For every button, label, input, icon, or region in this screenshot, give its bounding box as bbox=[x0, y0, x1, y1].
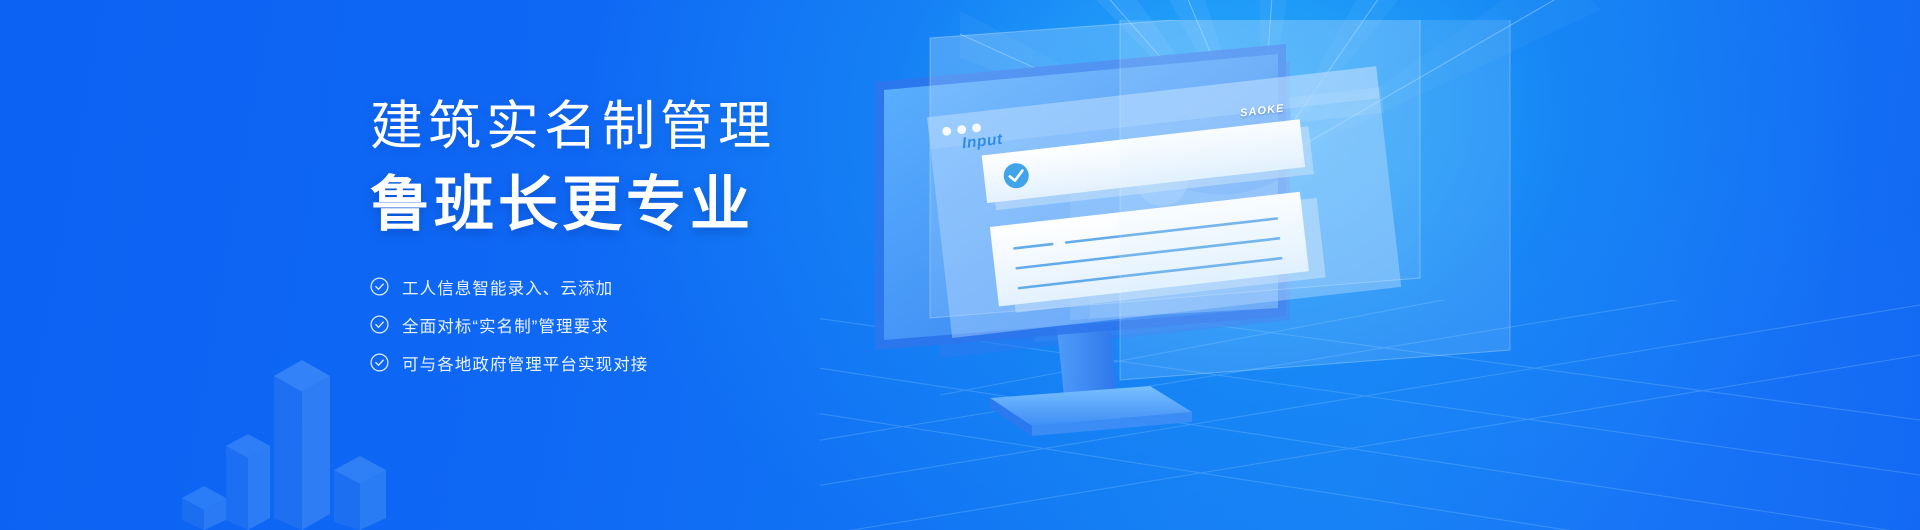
feature-item: 工人信息智能录入、云添加 bbox=[370, 275, 830, 299]
page-title-line2: 鲁班长更专业 bbox=[370, 169, 830, 241]
feature-label: 工人信息智能录入、云添加 bbox=[402, 275, 613, 299]
feature-label: 全面对标“实名制”管理要求 bbox=[402, 313, 609, 337]
check-circle-icon bbox=[370, 277, 389, 296]
desktop-monitor-illustration bbox=[820, 20, 1920, 520]
check-circle-icon bbox=[370, 353, 389, 372]
promo-banner: SAOKE Input bbox=[0, 0, 1920, 530]
feature-item: 全面对标“实名制”管理要求 bbox=[370, 313, 830, 337]
page-title-line1: 建筑实名制管理 bbox=[370, 96, 830, 159]
front-glass-sheet bbox=[1120, 20, 1510, 380]
banner-copy-block: 建筑实名制管理 鲁班长更专业 工人信息智能录入、云添加 bbox=[370, 96, 830, 389]
feature-label: 可与各地政府管理平台实现对接 bbox=[402, 351, 648, 375]
feature-list: 工人信息智能录入、云添加 全面对标“实名制”管理要求 bbox=[370, 275, 830, 375]
feature-item: 可与各地政府管理平台实现对接 bbox=[370, 351, 830, 375]
check-circle-icon bbox=[370, 315, 389, 334]
